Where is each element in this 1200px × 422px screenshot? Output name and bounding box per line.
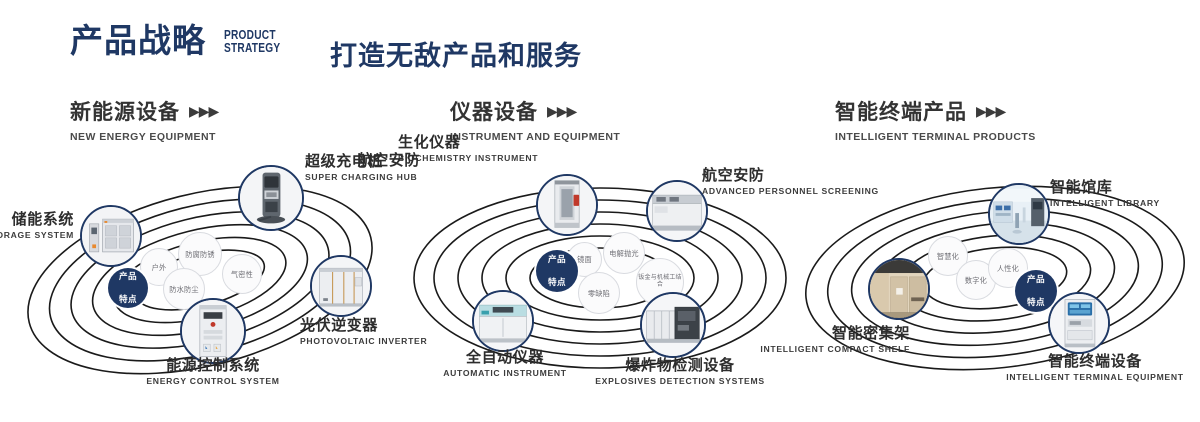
node-compact-shelf[interactable] [868, 258, 930, 320]
feature-bubble: 气密性 [222, 254, 262, 294]
node-automatic-instrument[interactable] [472, 290, 534, 352]
orbit-group-instrument: 镜面 电解抛光 零缺陷 钣金与机械工结合 产品特点 [400, 150, 800, 400]
node-label-cn: 生化仪器 [398, 135, 528, 152]
node-label-en: ENERGY STORAGE SYSTEM [0, 231, 74, 241]
core-line1: 产品 [1027, 274, 1045, 285]
chevron-right-triple-icon: ▶▶▶ [547, 103, 576, 120]
orbit-group-new-energy: 防腐防锈 户外 防水防尘 气密性 产品特点 [0, 150, 400, 400]
node-personnel-screening[interactable] [646, 180, 708, 242]
node-label-aviation-security-left: 航空安防 [300, 153, 420, 172]
section-title-new-energy: 新能源设备 ▶▶▶ NEW ENERGY EQUIPMENT [70, 96, 218, 143]
page-slogan: 打造无敌产品和服务 [330, 34, 582, 73]
page-title-en-line2: STRATEGY [224, 41, 280, 54]
node-label-energy-control: 能源控制系统 ENERGY CONTROL SYSTEM [88, 358, 338, 386]
core-line1: 产品 [548, 254, 566, 265]
node-biochemistry-instrument[interactable] [536, 174, 598, 236]
node-label-terminal-equipment: 智能终端设备 INTELLIGENT TERMINAL EQUIPMENT [960, 354, 1200, 382]
core-line2: 特点 [119, 294, 137, 305]
explosives-detector-icon [642, 294, 704, 356]
feature-label: 镜面 [577, 255, 592, 264]
node-label-cn: 智能终端设备 [960, 354, 1200, 371]
node-charging-hub[interactable] [238, 165, 304, 231]
feature-label: 电解抛光 [609, 249, 639, 258]
node-terminal-equipment[interactable] [1048, 292, 1110, 354]
core-badge-text: 产品特点 [1027, 274, 1045, 308]
chevron-right-triple-icon: ▶▶▶ [976, 103, 1005, 120]
node-label-en: INTELLIGENT TERMINAL EQUIPMENT [960, 373, 1200, 383]
core-badge-text: 产品特点 [119, 271, 137, 305]
core-badge: 产品特点 [108, 268, 148, 308]
feature-label: 人性化 [997, 264, 1019, 273]
core-line1: 产品 [119, 271, 137, 282]
node-label-en: EXPLOSIVES DETECTION SYSTEMS [560, 377, 800, 387]
feature-label: 钣金与机械工结合 [637, 275, 683, 289]
feature-label: 数字化 [965, 276, 987, 285]
node-explosives-detection[interactable] [640, 292, 706, 358]
node-label-compact-shelf: 智能密集架 INTELLIGENT COMPACT SHELF [710, 326, 910, 354]
section-title-en: NEW ENERGY EQUIPMENT [70, 131, 218, 143]
orbit-group-intelligent-terminal: 智慧化 数字化 人性化 产品特点 [800, 150, 1200, 400]
page-title-en-line1: PRODUCT [224, 28, 280, 41]
core-line2: 特点 [1027, 297, 1045, 308]
node-label-en: INTELLIGENT LIBRARY [1050, 199, 1200, 209]
feature-label: 零缺陷 [588, 289, 610, 298]
node-label-cn: 能源控制系统 [88, 358, 338, 375]
infographic-canvas: 产品战略 PRODUCT STRATEGY 打造无敌产品和服务 新能源设备 ▶▶… [0, 0, 1200, 422]
node-energy-storage[interactable] [80, 205, 142, 267]
node-intelligent-library[interactable] [988, 183, 1050, 245]
node-energy-control[interactable] [180, 298, 246, 364]
charging-pile-icon [240, 167, 302, 229]
page-header: 产品战略 PRODUCT STRATEGY [70, 24, 296, 57]
control-cabinet-icon [182, 300, 244, 362]
feature-label: 智慧化 [937, 252, 959, 261]
node-label-intelligent-library: 智能馆库 INTELLIGENT LIBRARY [1050, 180, 1200, 208]
node-label-cn: 航空安防 [300, 153, 420, 170]
section-title-cn: 新能源设备 [70, 96, 180, 126]
node-label-cn: 爆炸物检测设备 [560, 358, 800, 375]
node-label-en: INTELLIGENT COMPACT SHELF [710, 345, 910, 355]
automatic-analyzer-icon [474, 292, 532, 350]
node-label-cn: 智能馆库 [1050, 180, 1200, 197]
feature-label: 气密性 [231, 270, 253, 279]
chevron-right-triple-icon: ▶▶▶ [189, 103, 218, 120]
feature-label: 防腐防锈 [185, 250, 215, 259]
page-title-cn: 产品战略 [70, 24, 206, 57]
section-title-en: INTELLIGENT TERMINAL PRODUCTS [835, 131, 1036, 143]
core-line2: 特点 [548, 277, 566, 288]
self-service-kiosk-icon [1050, 294, 1108, 352]
section-title-intelligent-terminal: 智能终端产品 ▶▶▶ INTELLIGENT TERMINAL PRODUCTS [835, 96, 1036, 143]
node-label-en: ENERGY CONTROL SYSTEM [88, 377, 338, 387]
node-pv-inverter[interactable] [310, 255, 372, 317]
feature-label: 防水防尘 [169, 285, 199, 294]
feature-bubble: 零缺陷 [578, 272, 620, 314]
feature-bubble: 电解抛光 [603, 232, 645, 274]
node-label-cn: 智能密集架 [710, 326, 910, 343]
core-badge: 产品特点 [536, 250, 578, 292]
node-label-cn: 储能系统 [0, 212, 74, 229]
core-badge-text: 产品特点 [548, 254, 566, 288]
feature-label: 户外 [152, 263, 167, 272]
section-title-cn: 仪器设备 [450, 96, 538, 126]
energy-storage-cabinet-icon [82, 207, 140, 265]
pv-inverter-cabinet-icon [312, 257, 370, 315]
section-title-cn: 智能终端产品 [835, 96, 967, 126]
node-label-energy-storage: 储能系统 ENERGY STORAGE SYSTEM [0, 212, 74, 240]
page-title-en: PRODUCT STRATEGY [224, 28, 296, 58]
compact-shelving-icon [870, 260, 928, 318]
biochemistry-scanner-icon [538, 176, 596, 234]
node-label-explosives-detection: 爆炸物检测设备 EXPLOSIVES DETECTION SYSTEMS [560, 358, 800, 386]
personnel-screening-machine-icon [648, 182, 706, 240]
smart-library-room-icon [990, 185, 1048, 243]
